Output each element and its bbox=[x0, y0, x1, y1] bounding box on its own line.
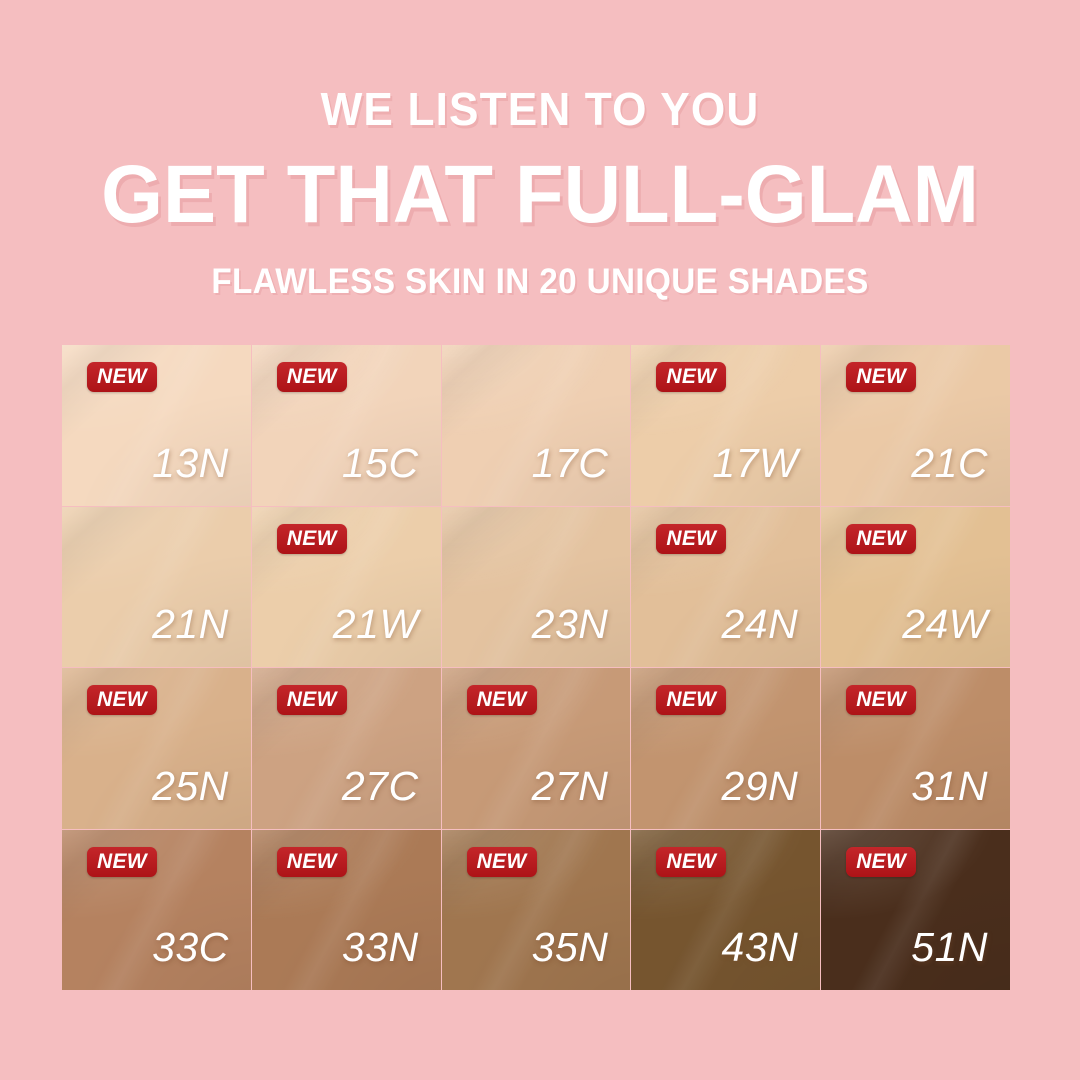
subheading-text: FLAWLESS SKIN IN 20 UNIQUE SHADES bbox=[27, 264, 1053, 299]
shade-swatch[interactable]: NEW21C bbox=[821, 345, 1010, 506]
new-badge: NEW bbox=[846, 685, 916, 715]
shade-label: 21W bbox=[333, 604, 419, 645]
shade-label: 35N bbox=[532, 927, 609, 968]
shade-swatch[interactable]: NEW29N bbox=[631, 668, 820, 829]
shade-label: 21C bbox=[911, 443, 988, 484]
shade-label: 21N bbox=[152, 604, 229, 645]
shade-swatch[interactable]: NEW13N bbox=[62, 345, 251, 506]
shade-swatch[interactable]: NEW27C bbox=[252, 668, 441, 829]
new-badge: NEW bbox=[656, 847, 726, 877]
new-badge: NEW bbox=[277, 524, 347, 554]
shade-swatch[interactable]: NEW25N bbox=[62, 668, 251, 829]
shade-swatch[interactable]: NEW27N bbox=[442, 668, 631, 829]
shade-swatch[interactable]: NEW33N bbox=[252, 830, 441, 991]
new-badge: NEW bbox=[277, 685, 347, 715]
shade-label: 13N bbox=[152, 443, 229, 484]
shade-label: 27C bbox=[342, 766, 419, 807]
new-badge: NEW bbox=[87, 847, 157, 877]
new-badge: NEW bbox=[656, 362, 726, 392]
shade-swatch[interactable]: NEW51N bbox=[821, 830, 1010, 991]
new-badge: NEW bbox=[656, 524, 726, 554]
shade-swatch[interactable]: 21N bbox=[62, 507, 251, 668]
shade-label: 31N bbox=[911, 766, 988, 807]
shade-swatch[interactable]: NEW33C bbox=[62, 830, 251, 991]
shade-swatch[interactable]: NEW15C bbox=[252, 345, 441, 506]
shade-swatch[interactable]: NEW24W bbox=[821, 507, 1010, 668]
poster-header: WE LISTEN TO YOU GET THAT FULL-GLAM FLAW… bbox=[0, 0, 1080, 299]
new-badge: NEW bbox=[277, 362, 347, 392]
shade-swatch[interactable]: NEW31N bbox=[821, 668, 1010, 829]
new-badge: NEW bbox=[846, 362, 916, 392]
shade-label: 17C bbox=[532, 443, 609, 484]
shade-swatch[interactable]: 17C bbox=[442, 345, 631, 506]
shade-swatch[interactable]: NEW24N bbox=[631, 507, 820, 668]
new-badge: NEW bbox=[656, 685, 726, 715]
shade-label: 33N bbox=[342, 927, 419, 968]
shade-swatch[interactable]: NEW35N bbox=[442, 830, 631, 991]
shade-label: 51N bbox=[911, 927, 988, 968]
shade-range-poster: WE LISTEN TO YOU GET THAT FULL-GLAM FLAW… bbox=[0, 0, 1080, 1080]
shade-label: 33C bbox=[152, 927, 229, 968]
shade-label: 43N bbox=[721, 927, 798, 968]
shade-swatch[interactable]: NEW17W bbox=[631, 345, 820, 506]
shade-swatch[interactable]: NEW21W bbox=[252, 507, 441, 668]
new-badge: NEW bbox=[87, 362, 157, 392]
shade-swatch-grid: NEW13NNEW15C17CNEW17WNEW21C21NNEW21W23NN… bbox=[62, 345, 1010, 990]
new-badge: NEW bbox=[87, 685, 157, 715]
shade-label: 25N bbox=[152, 766, 229, 807]
shade-label: 23N bbox=[532, 604, 609, 645]
shade-label: 24N bbox=[721, 604, 798, 645]
new-badge: NEW bbox=[467, 847, 537, 877]
shade-label: 27N bbox=[532, 766, 609, 807]
new-badge: NEW bbox=[846, 524, 916, 554]
shade-label: 24W bbox=[902, 604, 988, 645]
new-badge: NEW bbox=[277, 847, 347, 877]
shade-swatch[interactable]: 23N bbox=[442, 507, 631, 668]
shade-label: 17W bbox=[712, 443, 798, 484]
eyebrow-text: WE LISTEN TO YOU bbox=[22, 86, 1059, 132]
shade-swatch[interactable]: NEW43N bbox=[631, 830, 820, 991]
shade-label: 29N bbox=[721, 766, 798, 807]
shade-label: 15C bbox=[342, 443, 419, 484]
new-badge: NEW bbox=[467, 685, 537, 715]
page-title: GET THAT FULL-GLAM bbox=[16, 154, 1064, 236]
new-badge: NEW bbox=[846, 847, 916, 877]
